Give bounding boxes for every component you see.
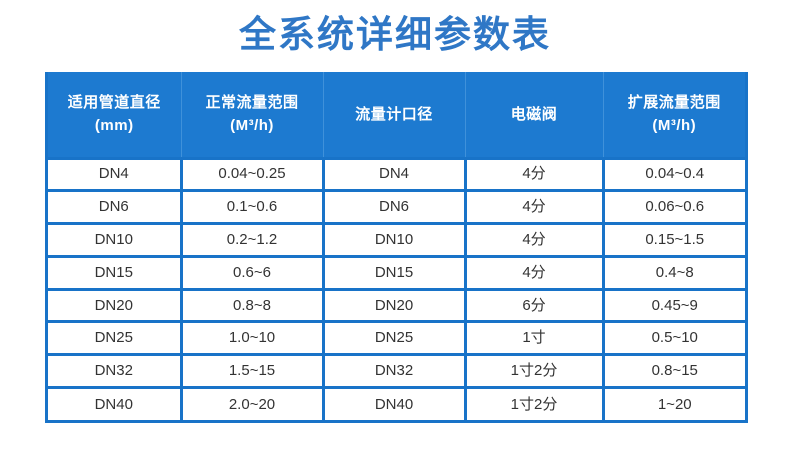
- spec-table-container: 适用管道直径 (mm) 正常流量范围 (M³/h) 流量计口径 电磁阀 扩展流量: [45, 72, 748, 423]
- cell-extended-flow-range: 0.15~1.5: [603, 224, 745, 257]
- table-row: DN15 0.6~6 DN15 4分 0.4~8: [48, 256, 745, 289]
- cell-solenoid-valve: 1寸2分: [465, 388, 603, 421]
- cell-normal-flow-range: 0.6~6: [181, 256, 323, 289]
- cell-solenoid-valve: 6分: [465, 289, 603, 322]
- cell-meter-bore: DN15: [323, 256, 465, 289]
- spec-table: 适用管道直径 (mm) 正常流量范围 (M³/h) 流量计口径 电磁阀 扩展流量: [48, 72, 745, 420]
- cell-solenoid-valve: 1寸: [465, 322, 603, 355]
- column-header-line2: (M³/h): [606, 114, 744, 137]
- table-row: DN6 0.1~0.6 DN6 4分 0.06~0.6: [48, 191, 745, 224]
- table-row: DN40 2.0~20 DN40 1寸2分 1~20: [48, 388, 745, 421]
- cell-pipe-diameter: DN20: [48, 289, 181, 322]
- column-header-normal-flow-range: 正常流量范围 (M³/h): [181, 72, 323, 158]
- cell-normal-flow-range: 0.8~8: [181, 289, 323, 322]
- column-header-solenoid-valve: 电磁阀: [465, 72, 603, 158]
- cell-pipe-diameter: DN4: [48, 158, 181, 191]
- page-title: 全系统详细参数表: [0, 13, 790, 57]
- cell-extended-flow-range: 0.8~15: [603, 355, 745, 388]
- cell-meter-bore: DN40: [323, 388, 465, 421]
- cell-pipe-diameter: DN32: [48, 355, 181, 388]
- cell-extended-flow-range: 0.4~8: [603, 256, 745, 289]
- column-header-line1: 适用管道直径: [68, 94, 161, 111]
- table-row: DN10 0.2~1.2 DN10 4分 0.15~1.5: [48, 224, 745, 257]
- cell-solenoid-valve: 4分: [465, 256, 603, 289]
- table-body: DN4 0.04~0.25 DN4 4分 0.04~0.4 DN6 0.1~0.…: [48, 158, 745, 420]
- cell-pipe-diameter: DN40: [48, 388, 181, 421]
- cell-normal-flow-range: 1.5~15: [181, 355, 323, 388]
- table-header-row: 适用管道直径 (mm) 正常流量范围 (M³/h) 流量计口径 电磁阀 扩展流量: [48, 72, 745, 158]
- cell-normal-flow-range: 0.2~1.2: [181, 224, 323, 257]
- cell-extended-flow-range: 0.04~0.4: [603, 158, 745, 191]
- cell-meter-bore: DN4: [323, 158, 465, 191]
- cell-meter-bore: DN25: [323, 322, 465, 355]
- table-row: DN20 0.8~8 DN20 6分 0.45~9: [48, 289, 745, 322]
- column-header-line1: 流量计口径: [355, 106, 433, 123]
- cell-meter-bore: DN10: [323, 224, 465, 257]
- cell-solenoid-valve: 1寸2分: [465, 355, 603, 388]
- cell-normal-flow-range: 1.0~10: [181, 322, 323, 355]
- column-header-pipe-diameter: 适用管道直径 (mm): [48, 72, 181, 158]
- cell-normal-flow-range: 0.1~0.6: [181, 191, 323, 224]
- table-row: DN25 1.0~10 DN25 1寸 0.5~10: [48, 322, 745, 355]
- cell-solenoid-valve: 4分: [465, 158, 603, 191]
- column-header-line1: 正常流量范围: [205, 94, 298, 111]
- cell-extended-flow-range: 1~20: [603, 388, 745, 421]
- table-header: 适用管道直径 (mm) 正常流量范围 (M³/h) 流量计口径 电磁阀 扩展流量: [48, 72, 745, 158]
- column-header-line2: (M³/h): [184, 114, 321, 137]
- cell-solenoid-valve: 4分: [465, 191, 603, 224]
- cell-extended-flow-range: 0.45~9: [603, 289, 745, 322]
- cell-meter-bore: DN20: [323, 289, 465, 322]
- cell-meter-bore: DN6: [323, 191, 465, 224]
- cell-extended-flow-range: 0.5~10: [603, 322, 745, 355]
- cell-extended-flow-range: 0.06~0.6: [603, 191, 745, 224]
- cell-pipe-diameter: DN25: [48, 322, 181, 355]
- table-row: DN32 1.5~15 DN32 1寸2分 0.8~15: [48, 355, 745, 388]
- column-header-line2: (mm): [50, 114, 179, 137]
- table-row: DN4 0.04~0.25 DN4 4分 0.04~0.4: [48, 158, 745, 191]
- cell-solenoid-valve: 4分: [465, 224, 603, 257]
- column-header-meter-bore: 流量计口径: [323, 72, 465, 158]
- cell-pipe-diameter: DN6: [48, 191, 181, 224]
- page-root: 全系统详细参数表 适用管道直径 (mm) 正常流量范围 (M³/h) 流量: [0, 0, 790, 450]
- cell-meter-bore: DN32: [323, 355, 465, 388]
- cell-pipe-diameter: DN15: [48, 256, 181, 289]
- column-header-line1: 电磁阀: [511, 106, 558, 123]
- cell-pipe-diameter: DN10: [48, 224, 181, 257]
- column-header-extended-flow-range: 扩展流量范围 (M³/h): [603, 72, 745, 158]
- column-header-line1: 扩展流量范围: [628, 94, 721, 111]
- cell-normal-flow-range: 0.04~0.25: [181, 158, 323, 191]
- cell-normal-flow-range: 2.0~20: [181, 388, 323, 421]
